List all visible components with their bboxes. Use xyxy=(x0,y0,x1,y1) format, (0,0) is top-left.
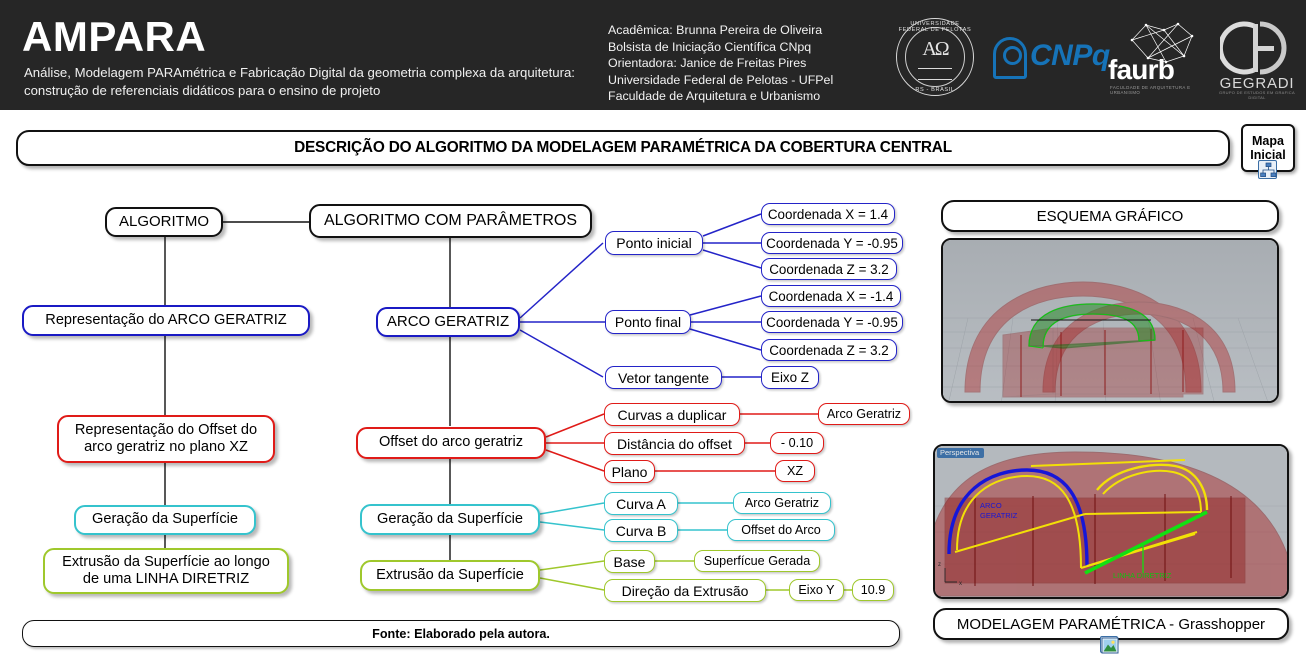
gegradi-logo: GEGRADI GRUPO DE ESTUDOS EM GRAFICA DIGI… xyxy=(1216,20,1298,100)
leaf-curvas-duplicar[interactable]: Curvas a duplicar xyxy=(604,403,740,426)
leaf-curva-b[interactable]: Curva B xyxy=(604,519,678,542)
credit-line: Acadêmica: Brunna Pereira de Oliveira xyxy=(608,22,833,39)
leaf-direcao-extrusao[interactable]: Direção da Extrusão xyxy=(604,579,766,602)
node-algoritmo[interactable]: ALGORITMO xyxy=(105,207,223,237)
leaf-vetor-tangente[interactable]: Vetor tangente xyxy=(605,366,722,389)
credit-line: Bolsista de Iniciação Científica CNpq xyxy=(608,39,833,56)
image-icon[interactable] xyxy=(1100,636,1118,653)
leaf-curva-a-value[interactable]: Arco Geratriz xyxy=(733,492,831,514)
poster-root: AMPARA Análise, Modelagem PARAmétrica e … xyxy=(0,0,1306,657)
node-mid-extrusao[interactable]: Extrusão da Superfície xyxy=(360,560,540,591)
faurb-wordmark: faurb xyxy=(1108,54,1174,86)
node-left-superficie[interactable]: Geração da Superfície xyxy=(74,505,256,535)
leaf-curva-b-value[interactable]: Offset do Arco xyxy=(727,519,835,541)
page-title: DESCRIÇÃO DO ALGORITMO DA MODELAGEM PARA… xyxy=(16,130,1230,166)
faurb-logo: faurb FACULDADE DE ARQUITETURA E URBANIS… xyxy=(1108,22,1200,98)
node-left-arco-geratriz[interactable]: Representação do ARCO GERATRIZ xyxy=(22,305,310,336)
svg-text:x: x xyxy=(959,581,962,587)
node-mid-offset[interactable]: Offset do arco geratriz xyxy=(356,427,546,459)
esquema-grafico-title: ESQUEMA GRÁFICO xyxy=(941,200,1279,232)
leaf-base[interactable]: Base xyxy=(604,550,655,573)
leaf-distancia-offset[interactable]: Distância do offset xyxy=(604,432,745,455)
leaf-distancia-offset-value[interactable]: - 0.10 xyxy=(770,432,824,454)
ufpel-seal-logo: UNIVERSIDADE FEDERAL DE PELOTAS AΩ RS - … xyxy=(896,18,974,96)
grasshopper-viewport-image: Perspectiva xyxy=(933,444,1289,599)
leaf-base-value[interactable]: Superfícue Gerada xyxy=(694,550,820,572)
linha-diretriz-annotation: LINHA DIRETRIZ xyxy=(1113,571,1172,580)
brand-subtitle: Análise, Modelagem PARAmétrica e Fabrica… xyxy=(24,64,599,99)
leaf-plano-value[interactable]: XZ xyxy=(775,460,815,482)
leaf-curva-a[interactable]: Curva A xyxy=(604,492,678,515)
svg-text:z: z xyxy=(938,562,941,568)
leaf-ponto-final[interactable]: Ponto final xyxy=(605,310,691,334)
credit-line: Faculdade de Arquitetura e Urbanismo xyxy=(608,88,833,105)
node-left-offset[interactable]: Representação do Offset do arco geratriz… xyxy=(57,415,275,463)
credit-line: Orientadora: Janice de Freitas Pires xyxy=(608,55,833,72)
seal-waves-icon xyxy=(918,68,952,80)
viewport-label[interactable]: Perspectiva xyxy=(937,448,984,458)
leaf-ponto-inicial-y[interactable]: Coordenada Y = -0.95 xyxy=(761,232,903,254)
credits-block: Acadêmica: Brunna Pereira de Oliveira Bo… xyxy=(608,22,833,105)
leaf-ponto-inicial-z[interactable]: Coordenada Z = 3.2 xyxy=(761,258,897,280)
seal-bottom-text: RS - BRASIL xyxy=(896,87,974,93)
leaf-ponto-final-x[interactable]: Coordenada X = -1.4 xyxy=(761,285,901,307)
gegradi-tagline: GRUPO DE ESTUDOS EM GRAFICA DIGITAL xyxy=(1216,90,1298,100)
header-banner: AMPARA Análise, Modelagem PARAmétrica e … xyxy=(0,0,1306,110)
cnpq-logo: CNPq xyxy=(993,36,1103,82)
svg-text:GERATRIZ: GERATRIZ xyxy=(980,511,1018,520)
faurb-tagline: FACULDADE DE ARQUITETURA E URBANISMO xyxy=(1110,85,1200,95)
node-mid-arco-geratriz[interactable]: ARCO GERATRIZ xyxy=(376,307,520,337)
leaf-direcao-extrusao-extra[interactable]: 10.9 xyxy=(852,579,894,601)
sitemap-icon[interactable] xyxy=(1258,160,1277,179)
arco-geratriz-annotation: ARCO xyxy=(980,501,1002,510)
cnpq-wordmark: CNPq xyxy=(1030,39,1110,73)
seal-top-text: UNIVERSIDADE FEDERAL DE PELOTAS xyxy=(896,21,974,33)
cnpq-mark-icon xyxy=(993,37,1027,79)
node-mid-superficie[interactable]: Geração da Superfície xyxy=(360,504,540,535)
leaf-ponto-inicial[interactable]: Ponto inicial xyxy=(605,231,703,255)
footer-source: Fonte: Elaborado pela autora. xyxy=(22,620,900,647)
leaf-plano[interactable]: Plano xyxy=(604,460,655,483)
leaf-vetor-tangente-value[interactable]: Eixo Z xyxy=(761,366,819,389)
leaf-curvas-duplicar-value[interactable]: Arco Geratriz xyxy=(818,403,910,425)
leaf-ponto-inicial-x[interactable]: Coordenada X = 1.4 xyxy=(761,203,895,225)
gegradi-mark-icon xyxy=(1220,20,1294,76)
brand-title: AMPARA xyxy=(22,16,206,58)
leaf-ponto-final-z[interactable]: Coordenada Z = 3.2 xyxy=(761,339,897,361)
leaf-ponto-final-y[interactable]: Coordenada Y = -0.95 xyxy=(761,311,903,333)
seal-monogram-icon: AΩ xyxy=(896,38,974,61)
credit-line: Universidade Federal de Pelotas - UFPel xyxy=(608,72,833,89)
esquema-grafico-image xyxy=(941,238,1279,403)
mapa-inicial-label-1: Mapa xyxy=(1252,134,1284,148)
node-left-extrusao[interactable]: Extrusão da Superfície ao longo de uma L… xyxy=(43,548,289,594)
leaf-direcao-extrusao-value[interactable]: Eixo Y xyxy=(789,579,844,601)
node-algoritmo-parametros[interactable]: ALGORITMO COM PARÂMETROS xyxy=(309,204,592,238)
